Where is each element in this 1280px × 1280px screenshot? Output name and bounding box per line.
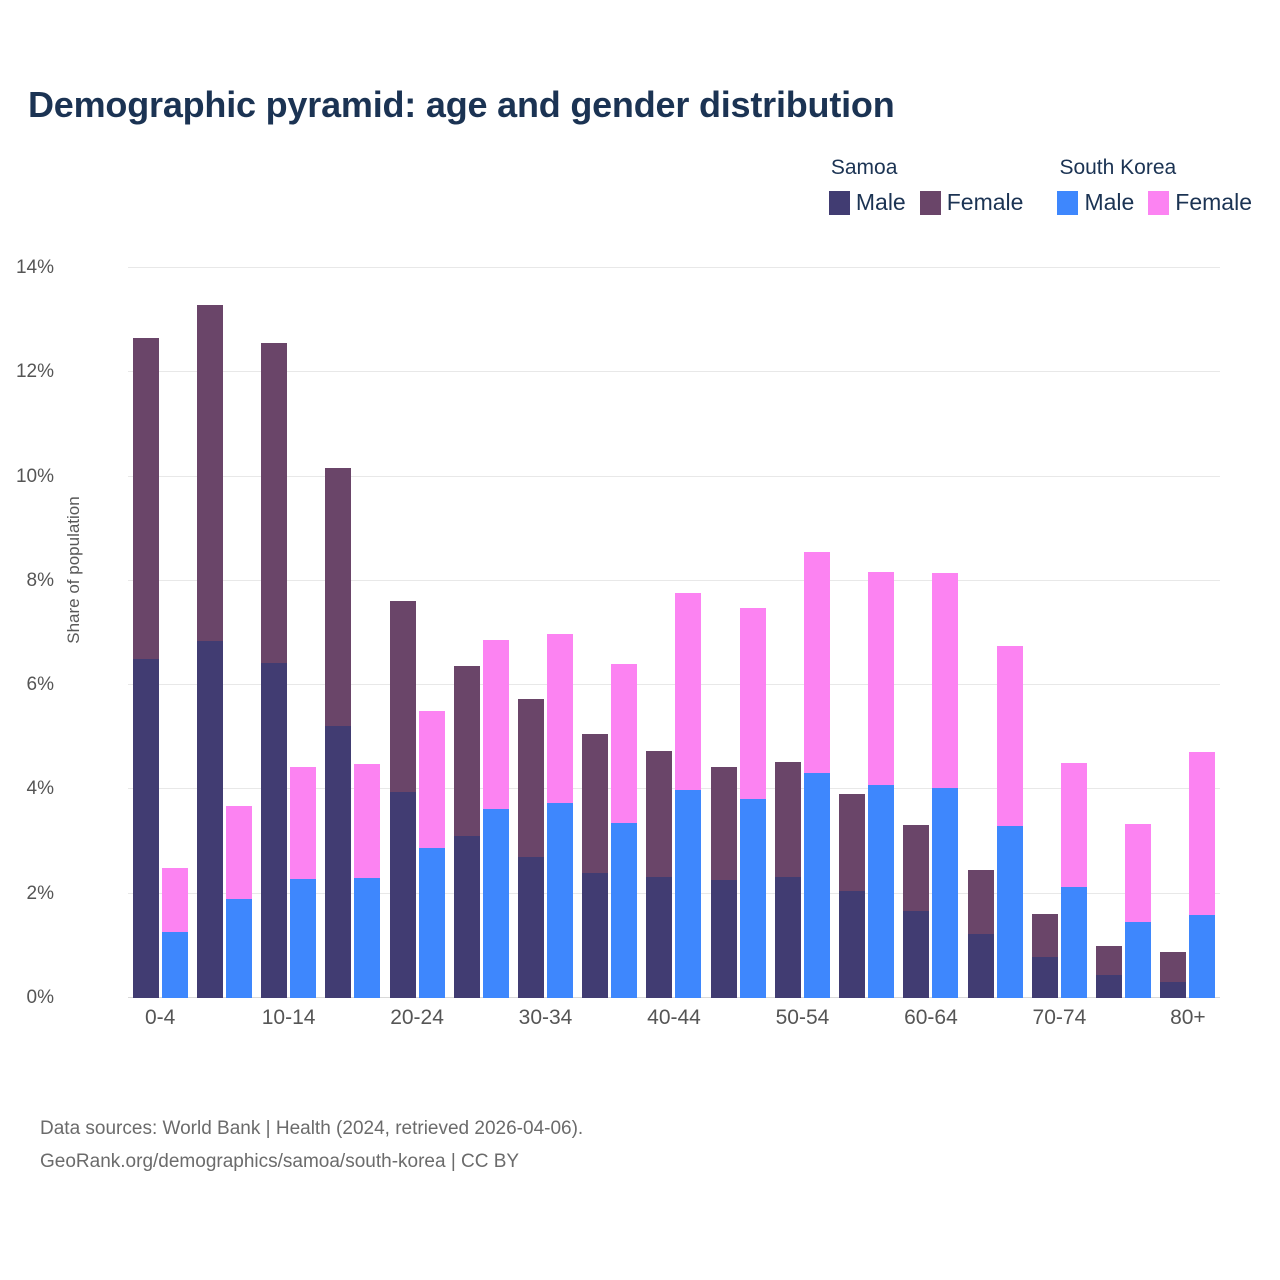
bar-segment-samoa-female[interactable] [390, 601, 416, 792]
bar-segment-korea-male[interactable] [611, 823, 637, 998]
bar-samoa-0-4[interactable] [133, 338, 159, 998]
bar-segment-korea-female[interactable] [547, 634, 573, 803]
age-group-45-49 [706, 268, 770, 998]
bar-south-korea-30-34[interactable] [547, 634, 573, 998]
bar-samoa-15-19[interactable] [325, 468, 351, 998]
bar-segment-korea-female[interactable] [1189, 752, 1215, 915]
bar-segment-korea-female[interactable] [290, 767, 316, 880]
bar-south-korea-75-79[interactable] [1125, 824, 1151, 998]
x-tick-label-60-64: 60-64 [871, 1006, 991, 1030]
bar-samoa-80+[interactable] [1160, 952, 1186, 998]
y-tick-label: 2% [0, 883, 54, 905]
x-tick-label-0-4: 0-4 [100, 1006, 220, 1030]
bar-segment-korea-male[interactable] [932, 788, 958, 998]
bar-samoa-55-59[interactable] [839, 794, 865, 998]
bar-segment-korea-male[interactable] [419, 848, 445, 998]
bar-segment-korea-male[interactable] [547, 803, 573, 998]
bar-segment-samoa-female[interactable] [454, 666, 480, 836]
bar-segment-korea-male[interactable] [1125, 922, 1151, 998]
bars-layer [128, 268, 1220, 998]
chart-page: Demographic pyramid: age and gender dist… [0, 0, 1280, 1280]
bar-segment-korea-female[interactable] [354, 764, 380, 878]
age-group-30-34 [513, 268, 577, 998]
bar-segment-samoa-male[interactable] [839, 891, 865, 998]
bar-samoa-40-44[interactable] [646, 751, 672, 998]
bar-segment-samoa-female[interactable] [839, 794, 865, 890]
bar-samoa-25-29[interactable] [454, 666, 480, 998]
age-group-40-44 [642, 268, 706, 998]
bar-south-korea-0-4[interactable] [162, 868, 188, 998]
bar-segment-samoa-male[interactable] [1096, 975, 1122, 998]
bar-segment-korea-male[interactable] [868, 785, 894, 998]
bar-segment-samoa-male[interactable] [261, 663, 287, 998]
bar-samoa-45-49[interactable] [711, 767, 737, 998]
bar-segment-korea-female[interactable] [611, 664, 637, 823]
bar-south-korea-5-9[interactable] [226, 806, 252, 998]
bar-south-korea-35-39[interactable] [611, 664, 637, 998]
bar-segment-korea-male[interactable] [1189, 915, 1215, 998]
y-tick-label: 0% [0, 987, 54, 1009]
bar-segment-korea-female[interactable] [1061, 763, 1087, 887]
bar-south-korea-80+[interactable] [1189, 752, 1215, 998]
x-tick-label-70-74: 70-74 [999, 1006, 1119, 1030]
bar-segment-samoa-female[interactable] [133, 338, 159, 659]
bar-segment-samoa-male[interactable] [775, 877, 801, 998]
y-tick-label: 14% [0, 257, 54, 279]
bar-segment-korea-male[interactable] [740, 799, 766, 998]
age-group-70-74 [1027, 268, 1091, 998]
bar-segment-samoa-male[interactable] [518, 857, 544, 998]
bar-segment-samoa-male[interactable] [390, 792, 416, 998]
age-group-50-54 [770, 268, 834, 998]
x-tick-label-30-34: 30-34 [486, 1006, 606, 1030]
bar-segment-samoa-male[interactable] [903, 911, 929, 998]
bar-segment-samoa-male[interactable] [133, 659, 159, 998]
age-group-65-69 [963, 268, 1027, 998]
bar-segment-samoa-male[interactable] [582, 873, 608, 998]
bar-segment-korea-female[interactable] [804, 552, 830, 773]
bar-segment-samoa-male[interactable] [968, 934, 994, 998]
bar-segment-korea-female[interactable] [1125, 824, 1151, 922]
bar-segment-samoa-male[interactable] [1032, 957, 1058, 998]
bar-segment-samoa-male[interactable] [646, 877, 672, 998]
age-group-35-39 [578, 268, 642, 998]
bar-segment-korea-female[interactable] [162, 868, 188, 932]
bar-segment-korea-female[interactable] [740, 608, 766, 799]
bar-segment-korea-male[interactable] [1061, 887, 1087, 998]
y-tick-label: 6% [0, 674, 54, 696]
bar-segment-samoa-female[interactable] [968, 870, 994, 934]
bar-segment-korea-female[interactable] [226, 806, 252, 900]
bar-south-korea-55-59[interactable] [868, 572, 894, 999]
bar-segment-samoa-female[interactable] [646, 751, 672, 877]
bar-segment-samoa-male[interactable] [197, 641, 223, 998]
bar-south-korea-65-69[interactable] [997, 646, 1023, 998]
chart-footer: Data sources: World Bank | Health (2024,… [40, 1112, 583, 1179]
plot-area: 0%2%4%6%8%10%12%14% 0-410-1420-2430-3440… [128, 268, 1220, 998]
bar-segment-samoa-female[interactable] [325, 468, 351, 726]
bar-samoa-60-64[interactable] [903, 825, 929, 998]
bar-segment-korea-male[interactable] [483, 809, 509, 998]
y-tick-label: 12% [0, 361, 54, 383]
bar-segment-samoa-female[interactable] [1032, 914, 1058, 957]
bar-segment-korea-female[interactable] [868, 572, 894, 785]
bar-segment-korea-male[interactable] [675, 790, 701, 998]
bar-south-korea-50-54[interactable] [804, 552, 830, 998]
bar-segment-korea-male[interactable] [354, 878, 380, 998]
bar-samoa-30-34[interactable] [518, 699, 544, 998]
age-group-55-59 [835, 268, 899, 998]
bar-segment-korea-female[interactable] [932, 573, 958, 788]
bar-segment-samoa-female[interactable] [775, 762, 801, 877]
x-tick-label-50-54: 50-54 [742, 1006, 862, 1030]
age-group-25-29 [449, 268, 513, 998]
x-tick-label-40-44: 40-44 [614, 1006, 734, 1030]
bar-samoa-20-24[interactable] [390, 601, 416, 998]
bar-samoa-75-79[interactable] [1096, 946, 1122, 998]
bar-south-korea-70-74[interactable] [1061, 763, 1087, 998]
bar-segment-korea-male[interactable] [162, 932, 188, 998]
bar-segment-samoa-female[interactable] [261, 343, 287, 663]
bar-south-korea-60-64[interactable] [932, 573, 958, 998]
bar-segment-korea-female[interactable] [419, 711, 445, 848]
x-tick-label-20-24: 20-24 [357, 1006, 477, 1030]
y-axis-title: Share of population [64, 470, 84, 670]
bar-samoa-35-39[interactable] [582, 734, 608, 998]
y-tick-label: 4% [0, 778, 54, 800]
bar-samoa-70-74[interactable] [1032, 914, 1058, 998]
age-group-75-79 [1092, 268, 1156, 998]
bar-segment-samoa-female[interactable] [1160, 952, 1186, 982]
age-group-80+ [1156, 268, 1220, 998]
bar-segment-korea-female[interactable] [675, 593, 701, 790]
y-tick-label: 10% [0, 466, 54, 488]
bar-samoa-10-14[interactable] [261, 343, 287, 998]
bar-segment-korea-male[interactable] [226, 899, 252, 998]
plot-wrapper: Share of population 0%2%4%6%8%10%12%14% … [0, 0, 1280, 1280]
footer-data-sources: Data sources: World Bank | Health (2024,… [40, 1112, 583, 1145]
age-group-5-9 [192, 268, 256, 998]
bar-segment-korea-male[interactable] [997, 826, 1023, 998]
bar-south-korea-20-24[interactable] [419, 711, 445, 998]
bar-samoa-65-69[interactable] [968, 870, 994, 998]
bar-segment-korea-female[interactable] [483, 640, 509, 809]
bar-south-korea-40-44[interactable] [675, 593, 701, 998]
age-group-0-4 [128, 268, 192, 998]
bar-samoa-50-54[interactable] [775, 762, 801, 998]
bar-segment-samoa-male[interactable] [1160, 982, 1186, 998]
bar-segment-samoa-female[interactable] [711, 767, 737, 880]
age-group-15-19 [321, 268, 385, 998]
bar-south-korea-15-19[interactable] [354, 764, 380, 998]
bar-samoa-5-9[interactable] [197, 305, 223, 998]
bar-segment-samoa-male[interactable] [711, 880, 737, 998]
bar-segment-samoa-female[interactable] [197, 305, 223, 641]
bar-south-korea-45-49[interactable] [740, 608, 766, 998]
x-tick-label-80+: 80+ [1128, 1006, 1248, 1030]
age-group-20-24 [385, 268, 449, 998]
bar-segment-samoa-male[interactable] [325, 726, 351, 998]
footer-attribution: GeoRank.org/demographics/samoa/south-kor… [40, 1145, 583, 1178]
bar-south-korea-25-29[interactable] [483, 640, 509, 998]
age-group-10-14 [256, 268, 320, 998]
bar-segment-samoa-male[interactable] [454, 836, 480, 998]
bar-segment-samoa-female[interactable] [518, 699, 544, 857]
bar-segment-samoa-female[interactable] [903, 825, 929, 912]
bar-segment-korea-female[interactable] [997, 646, 1023, 827]
age-group-60-64 [899, 268, 963, 998]
x-tick-label-10-14: 10-14 [229, 1006, 349, 1030]
bar-segment-korea-male[interactable] [804, 773, 830, 998]
bar-segment-korea-male[interactable] [290, 879, 316, 998]
bar-segment-samoa-female[interactable] [582, 734, 608, 873]
bar-segment-samoa-female[interactable] [1096, 946, 1122, 975]
y-tick-label: 8% [0, 570, 54, 592]
bar-south-korea-10-14[interactable] [290, 767, 316, 999]
